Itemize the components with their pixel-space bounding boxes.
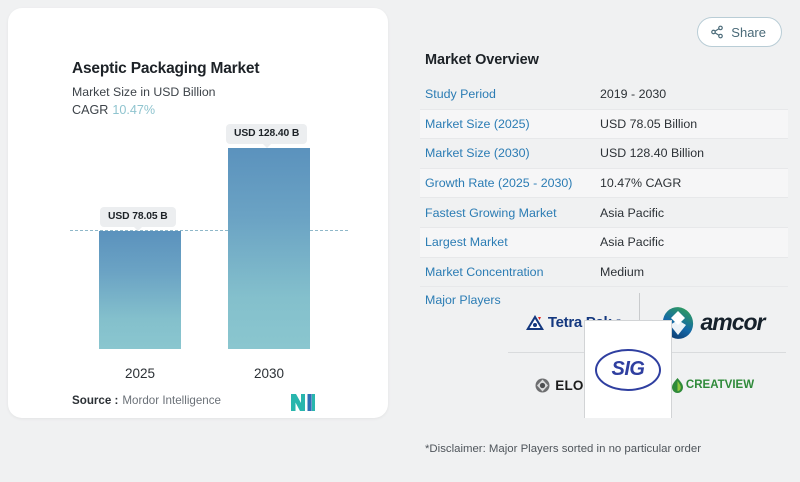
x-axis-tick-2030: 2030: [228, 366, 310, 381]
table-row: Fastest Growing Market Asia Pacific: [420, 198, 788, 228]
bar-2030[interactable]: [228, 148, 310, 349]
row-key: Growth Rate (2025 - 2030): [425, 176, 600, 190]
mordor-intelligence-logo: [291, 394, 315, 411]
tetra-pak-icon: [526, 315, 544, 330]
row-key: Largest Market: [425, 235, 600, 249]
share-button[interactable]: Share: [697, 17, 782, 47]
row-key: Market Size (2030): [425, 146, 600, 160]
source-name: Mordor Intelligence: [122, 394, 221, 407]
table-row: Study Period 2019 - 2030: [420, 80, 788, 110]
major-players-grid: Tetra Pak® amcor ELOPAK: [508, 293, 786, 417]
table-row: Market Size (2025) USD 78.05 Billion: [420, 110, 788, 140]
row-value: Asia Pacific: [600, 235, 664, 249]
bar-label-2025: USD 78.05 B: [100, 207, 176, 227]
share-icon: [710, 25, 724, 39]
row-value: USD 78.05 Billion: [600, 117, 697, 131]
amcor-wordmark: amcor: [700, 309, 764, 336]
row-key: Market Concentration: [425, 265, 600, 279]
row-value: 2019 - 2030: [600, 87, 666, 101]
disclaimer-text: *Disclaimer: Major Players sorted in no …: [425, 443, 701, 455]
table-row: Market Size (2030) USD 128.40 Billion: [420, 139, 788, 169]
chart-card: Aseptic Packaging Market Market Size in …: [8, 8, 388, 418]
row-key: Market Size (2025): [425, 117, 600, 131]
bar-chart-plot: USD 78.05 B USD 128.40 B 2025 2030: [8, 8, 388, 418]
source-label: Source :: [72, 394, 118, 407]
player-logo-sig: SIG: [584, 320, 672, 418]
major-players-label: Major Players: [425, 293, 501, 307]
row-value: 10.47% CAGR: [600, 176, 681, 190]
bar-2025[interactable]: [99, 231, 181, 349]
row-value: Asia Pacific: [600, 206, 664, 220]
table-row: Market Concentration Medium: [420, 258, 788, 288]
sig-wordmark: SIG: [595, 349, 661, 391]
source-row: Source :Mordor Intelligence: [72, 394, 221, 407]
x-axis-tick-2025: 2025: [99, 366, 181, 381]
overview-title: Market Overview: [425, 52, 539, 68]
bar-label-2030: USD 128.40 B: [226, 124, 307, 144]
table-row: Largest Market Asia Pacific: [420, 228, 788, 258]
creatview-wordmark: CREATVIEW: [686, 379, 754, 391]
row-value: Medium: [600, 265, 644, 279]
row-key: Fastest Growing Market: [425, 206, 600, 220]
row-value: USD 128.40 Billion: [600, 146, 704, 160]
creatview-leaf-icon: [672, 378, 683, 393]
elopak-icon: [535, 378, 550, 393]
share-button-label: Share: [731, 25, 766, 40]
row-key: Study Period: [425, 87, 600, 101]
market-overview-table: Study Period 2019 - 2030 Market Size (20…: [420, 80, 788, 287]
table-row: Growth Rate (2025 - 2030) 10.47% CAGR: [420, 169, 788, 199]
